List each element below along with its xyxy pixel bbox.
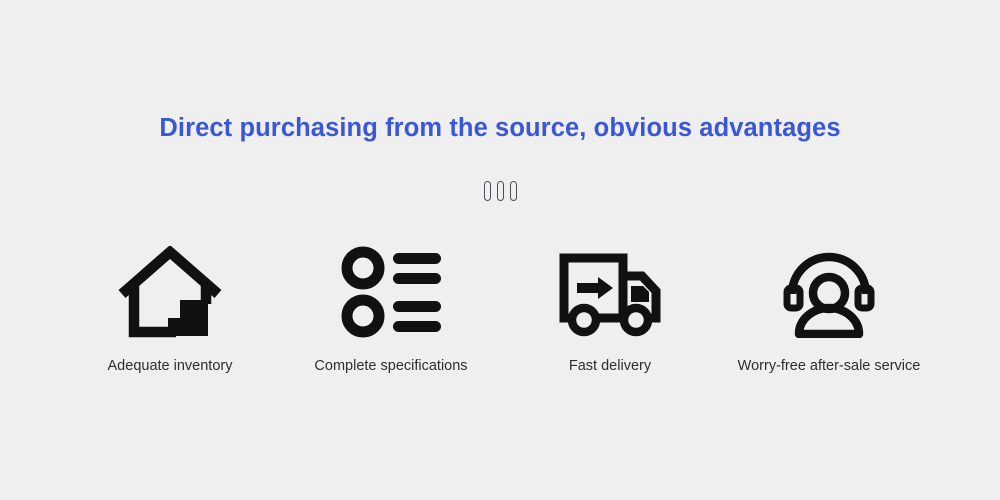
feature-list: Adequate inventory Complete specific — [0, 246, 1000, 374]
feature-item-delivery: Fast delivery — [502, 246, 718, 374]
delivery-truck-icon — [557, 246, 663, 338]
feature-item-support: Worry-free after-sale service — [718, 246, 940, 374]
separator-pill-icon — [484, 181, 491, 201]
promo-banner: Direct purchasing from the source, obvio… — [0, 0, 1000, 500]
separator-pill-icon — [510, 181, 517, 201]
headset-support-icon — [779, 246, 879, 338]
banner-title: Direct purchasing from the source, obvio… — [0, 114, 1000, 143]
feature-label: Worry-free after-sale service — [738, 358, 921, 374]
feature-label: Adequate inventory — [108, 358, 233, 374]
feature-label: Complete specifications — [314, 358, 467, 374]
separator-pill-icon — [497, 181, 504, 201]
feature-item-specifications: Complete specifications — [280, 246, 502, 374]
feature-label: Fast delivery — [569, 358, 651, 374]
specification-list-icon — [339, 246, 443, 338]
warehouse-icon — [118, 246, 222, 338]
feature-item-inventory: Adequate inventory — [60, 246, 280, 374]
decorative-separator — [0, 181, 1000, 201]
